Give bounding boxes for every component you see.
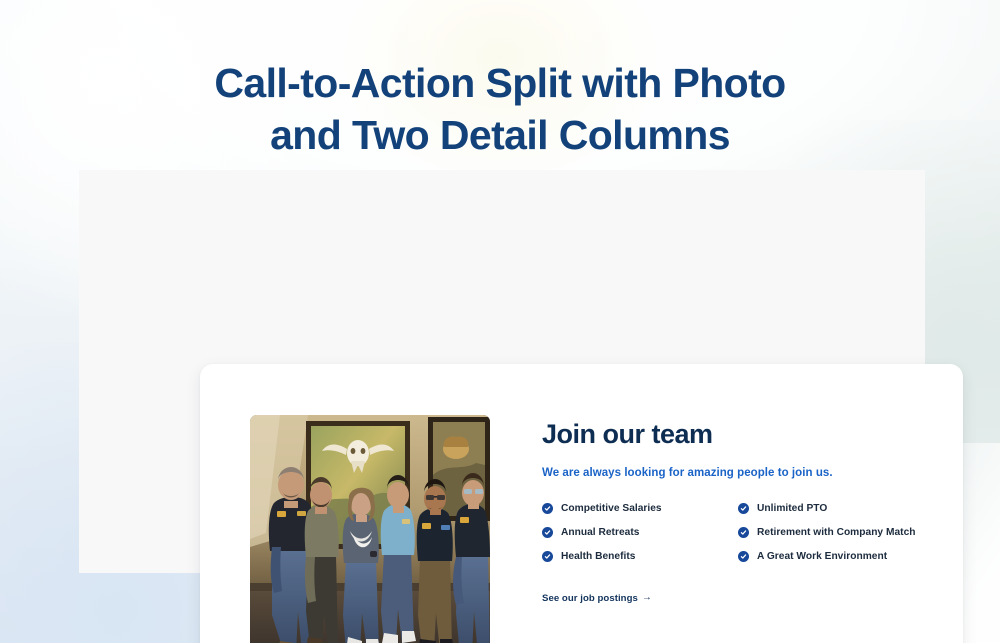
list-item: A Great Work Environment <box>738 551 927 562</box>
page-title: Call-to-Action Split with Photo and Two … <box>0 58 1000 161</box>
benefit-label: A Great Work Environment <box>757 551 887 562</box>
team-group-photo-icon <box>250 415 490 643</box>
job-postings-link-label: See our job postings <box>542 593 638 604</box>
benefit-label: Health Benefits <box>561 551 635 562</box>
check-circle-icon <box>738 551 749 562</box>
section-panel: Join our team We are always looking for … <box>79 170 925 573</box>
benefits-list: Competitive Salaries Unlimited PTO Annua… <box>542 503 927 562</box>
page-title-line-2: and Two Detail Columns <box>0 110 1000 162</box>
list-item: Retirement with Company Match <box>738 527 927 538</box>
job-postings-link[interactable]: See our job postings → <box>542 593 652 604</box>
benefit-label: Competitive Salaries <box>561 503 662 514</box>
check-circle-icon <box>542 551 553 562</box>
benefit-label: Unlimited PTO <box>757 503 827 514</box>
benefit-label: Annual Retreats <box>561 527 639 538</box>
list-item: Competitive Salaries <box>542 503 738 514</box>
cta-subtitle: We are always looking for amazing people… <box>542 467 927 479</box>
check-circle-icon <box>542 527 553 538</box>
cta-card: Join our team We are always looking for … <box>200 364 963 643</box>
check-circle-icon <box>542 503 553 514</box>
cta-content: Join our team We are always looking for … <box>542 420 927 606</box>
benefit-label: Retirement with Company Match <box>757 527 916 538</box>
check-circle-icon <box>738 527 749 538</box>
page-title-line-1: Call-to-Action Split with Photo <box>0 58 1000 110</box>
list-item: Health Benefits <box>542 551 738 562</box>
list-item: Annual Retreats <box>542 527 738 538</box>
arrow-right-icon: → <box>642 593 652 603</box>
cta-heading: Join our team <box>542 420 927 450</box>
team-photo <box>250 415 490 643</box>
list-item: Unlimited PTO <box>738 503 927 514</box>
check-circle-icon <box>738 503 749 514</box>
